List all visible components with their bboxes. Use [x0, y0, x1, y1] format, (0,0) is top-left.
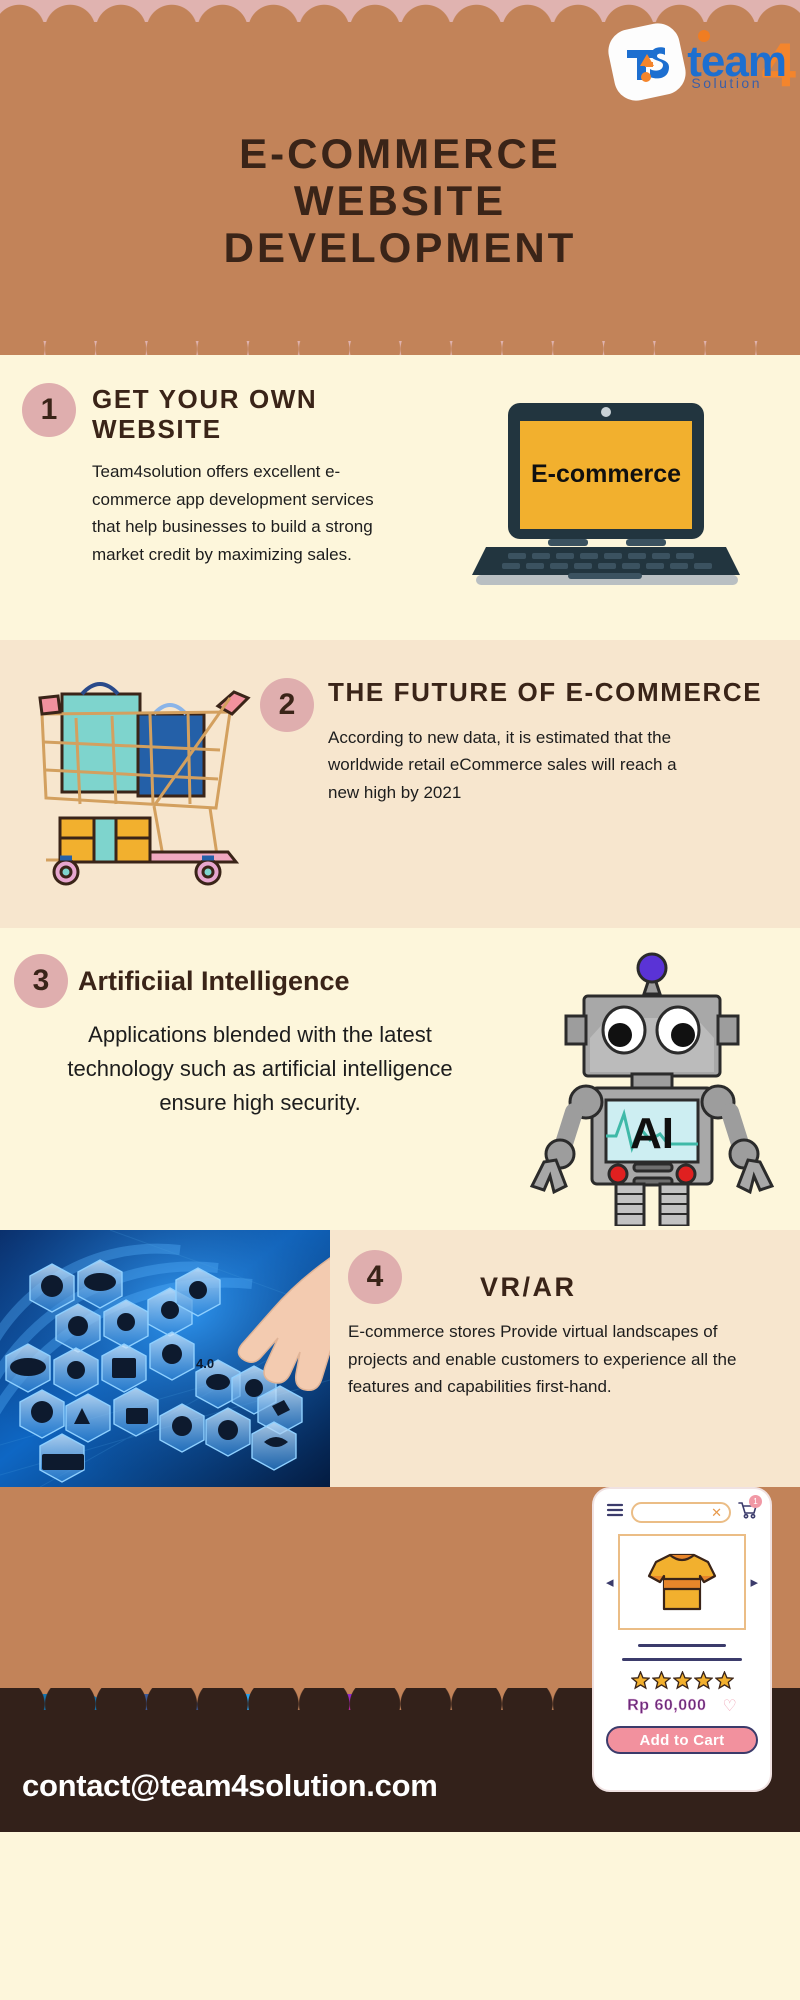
phone-store-mockup: ✕ 1 ◂ [592, 1487, 772, 1792]
section-4-image: 4.0 [0, 1230, 330, 1487]
section-3-title: Artificiial Intelligence [78, 966, 350, 997]
section-2-body: According to new data, it is estimated t… [328, 724, 688, 807]
brand-subtitle: Solution [691, 76, 762, 90]
title-line-1: E-COMMERCE [40, 130, 760, 177]
section-4-body: E-commerce stores Provide virtual landsc… [348, 1318, 778, 1401]
section-4-number: 4 [348, 1250, 402, 1304]
vr-ar-hexagon-tech-photo: 4.0 [0, 1230, 330, 1487]
section-1-number: 1 [22, 383, 76, 437]
section-3-number: 3 [14, 954, 68, 1008]
phone-topbar: ✕ 1 [606, 1501, 758, 1524]
shopping-cart-icon[interactable]: 1 [738, 1501, 758, 1524]
add-to-cart-button[interactable]: Add to Cart [606, 1726, 758, 1754]
footer-area: ✕ 1 ◂ [0, 1487, 800, 1832]
brand-logo[interactable]: 4 team Solution [611, 26, 786, 98]
section-1-title: GET YOUR OWN WEBSITE [92, 385, 450, 444]
chevron-right-icon[interactable]: ▸ [750, 1573, 758, 1591]
infographic-page: 4 team Solution E-COMMERCE WEBSITE DEVEL… [0, 0, 800, 2000]
rating-stars[interactable] [606, 1671, 758, 1690]
section-4: 4.0 4 VR/AR E-commerce stores Provide vi… [0, 1230, 800, 1487]
cart-badge: 1 [749, 1495, 762, 1508]
section-2-title: THE FUTURE OF E-COMMERCE [328, 678, 762, 708]
header-scallop-bottom [0, 333, 800, 355]
header: 4 team Solution E-COMMERCE WEBSITE DEVEL… [0, 0, 800, 355]
t4s-logo-icon [605, 19, 690, 104]
price-row: Rp 60,000 ♡ [606, 1696, 758, 1716]
section-1-content: 1 GET YOUR OWN WEBSITE Team4solution off… [0, 383, 450, 640]
section-4-content: 4 VR/AR E-commerce stores Provide virtua… [330, 1230, 800, 1487]
brand-wordmark: 4 team Solution [687, 40, 786, 84]
section-1-body: Team4solution offers excellent e-commerc… [92, 458, 392, 568]
close-icon[interactable]: ✕ [711, 1505, 722, 1521]
section-3-body: Applications blended with the latest tec… [14, 1018, 500, 1120]
product-carousel: ◂ ▸ [606, 1534, 758, 1630]
product-image [618, 1534, 747, 1630]
section-3-content: 3 Artificiial Intelligence Applications … [0, 928, 500, 1230]
laptop-screen-label: E-commerce [531, 460, 681, 488]
product-title-placeholder [638, 1644, 726, 1647]
shopping-cart-illustration [4, 656, 254, 891]
section-2-image [0, 640, 260, 928]
section-3-image: AI [500, 928, 800, 1230]
page-title: E-COMMERCE WEBSITE DEVELOPMENT [0, 130, 800, 271]
title-line-2: WEBSITE [40, 177, 760, 224]
product-desc-placeholder [622, 1658, 742, 1661]
hamburger-menu-icon[interactable] [606, 1503, 624, 1522]
section-2: 2 THE FUTURE OF E-COMMERCE According to … [0, 640, 800, 928]
laptop-ecommerce-illustration: E-commerce [460, 397, 750, 602]
contact-email[interactable]: contact@team4solution.com [22, 1768, 437, 1804]
product-price: Rp 60,000 [627, 1697, 706, 1715]
search-input[interactable]: ✕ [631, 1502, 731, 1523]
tshirt-icon [644, 1549, 720, 1615]
chevron-left-icon[interactable]: ◂ [606, 1573, 614, 1591]
section-2-number: 2 [260, 678, 314, 732]
heart-icon[interactable]: ♡ [722, 1696, 736, 1716]
section-3: 3 Artificiial Intelligence Applications … [0, 928, 800, 1230]
robot-chest-label: AI [630, 1109, 674, 1158]
section-1-image: E-commerce [450, 383, 800, 640]
ai-robot-illustration: AI [526, 946, 778, 1230]
section-1: 1 GET YOUR OWN WEBSITE Team4solution off… [0, 355, 800, 640]
section-2-content: 2 THE FUTURE OF E-COMMERCE According to … [260, 640, 800, 928]
tech-hex-label: 4.0 [196, 1356, 214, 1371]
title-line-3: DEVELOPMENT [40, 224, 760, 271]
section-4-title: VR/AR [480, 1272, 577, 1303]
